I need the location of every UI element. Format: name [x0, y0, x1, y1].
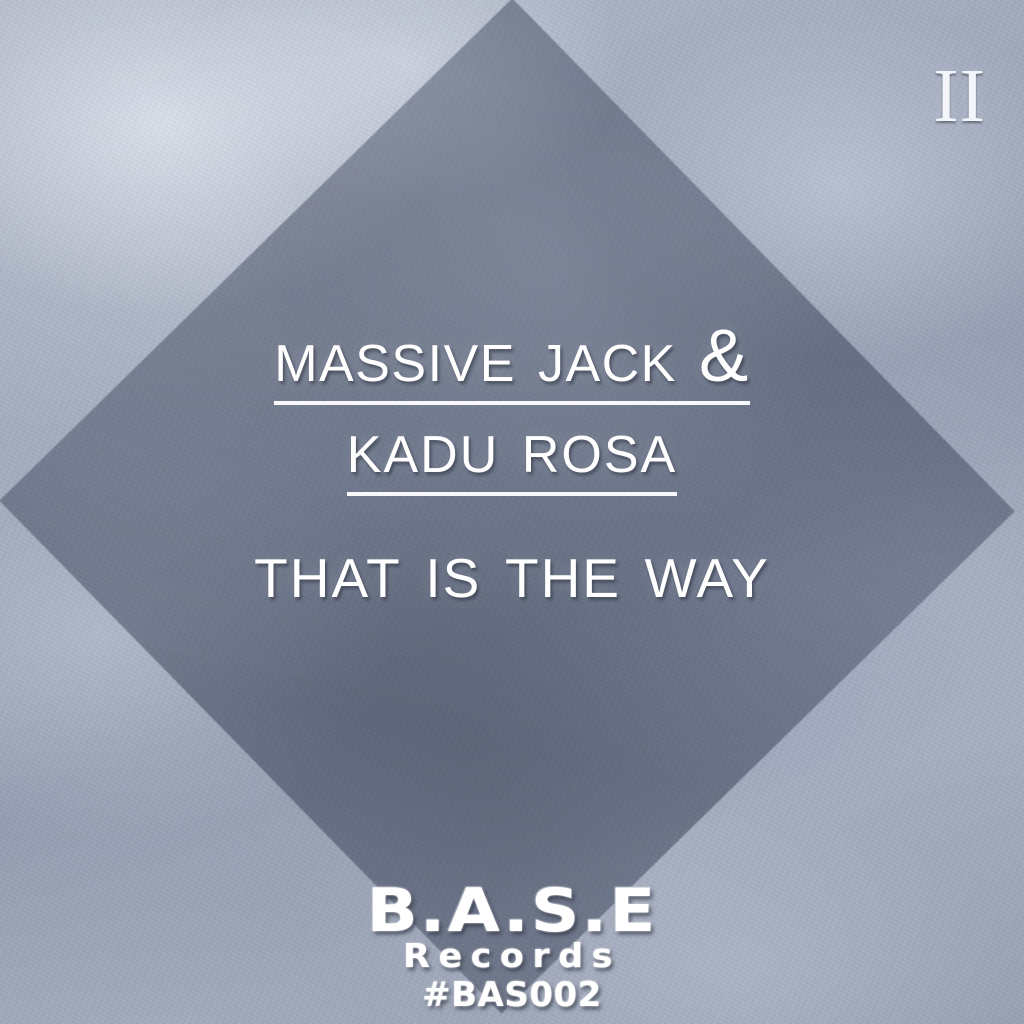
label-logo-subtitle: Records	[0, 939, 1024, 972]
edition-numeral: II	[933, 58, 986, 134]
title-block: Massive Jack & Kadu Rosa That Is The Way	[0, 318, 1024, 612]
label-lockup: B.A.S.E Records #BAS002	[0, 883, 1024, 1012]
artist-name-line-1: Massive Jack &	[274, 318, 750, 405]
album-cover: II Massive Jack & Kadu Rosa That Is The …	[0, 0, 1024, 1024]
artist-name-line-2: Kadu Rosa	[347, 409, 677, 496]
label-logo-text: B.A.S.E	[0, 883, 1024, 941]
track-title: That Is The Way	[0, 530, 1024, 612]
catalog-number: #BAS002	[0, 978, 1024, 1012]
